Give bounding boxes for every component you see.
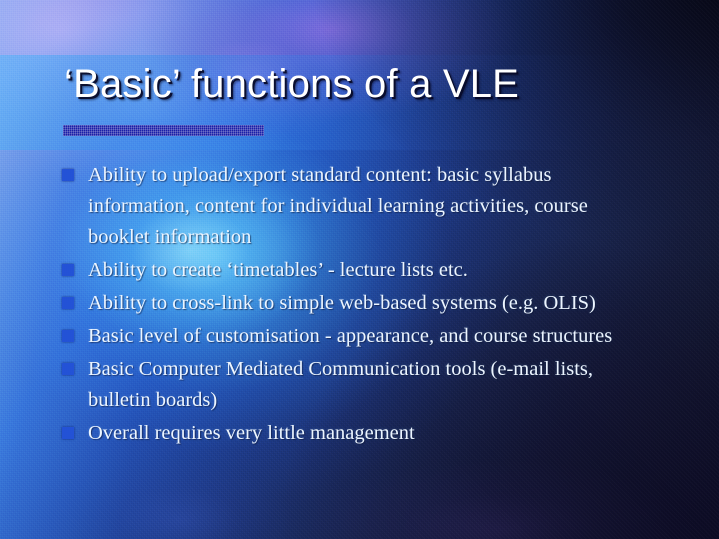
square-bullet-icon — [62, 363, 74, 375]
square-bullet-icon — [62, 330, 74, 342]
bullet-list: Ability to upload/export standard conten… — [62, 160, 650, 451]
list-item-text: Basic Computer Mediated Communication to… — [88, 358, 593, 411]
title-underline-bar — [63, 125, 264, 136]
list-item: Ability to upload/export standard conten… — [62, 160, 650, 253]
list-item: Basic level of customisation - appearanc… — [62, 321, 650, 352]
list-item-text: Ability to upload/export standard conten… — [88, 164, 588, 248]
list-item-text: Ability to cross-link to simple web-base… — [88, 292, 596, 314]
list-item: Overall requires very little management — [62, 418, 650, 449]
list-item: Ability to create ‘timetables’ - lecture… — [62, 255, 650, 286]
list-item-text: Ability to create ‘timetables’ - lecture… — [88, 259, 468, 281]
square-bullet-icon — [62, 169, 74, 181]
square-bullet-icon — [62, 264, 74, 276]
list-item-text: Basic level of customisation - appearanc… — [88, 325, 612, 347]
square-bullet-icon — [62, 427, 74, 439]
list-item: Ability to cross-link to simple web-base… — [62, 288, 650, 319]
square-bullet-icon — [62, 297, 74, 309]
slide-title: ‘Basic’ functions of a VLE — [64, 62, 664, 107]
list-item: Basic Computer Mediated Communication to… — [62, 354, 650, 416]
presentation-slide: ‘Basic’ functions of a VLE Ability to up… — [0, 0, 719, 539]
list-item-text: Overall requires very little management — [88, 422, 415, 444]
